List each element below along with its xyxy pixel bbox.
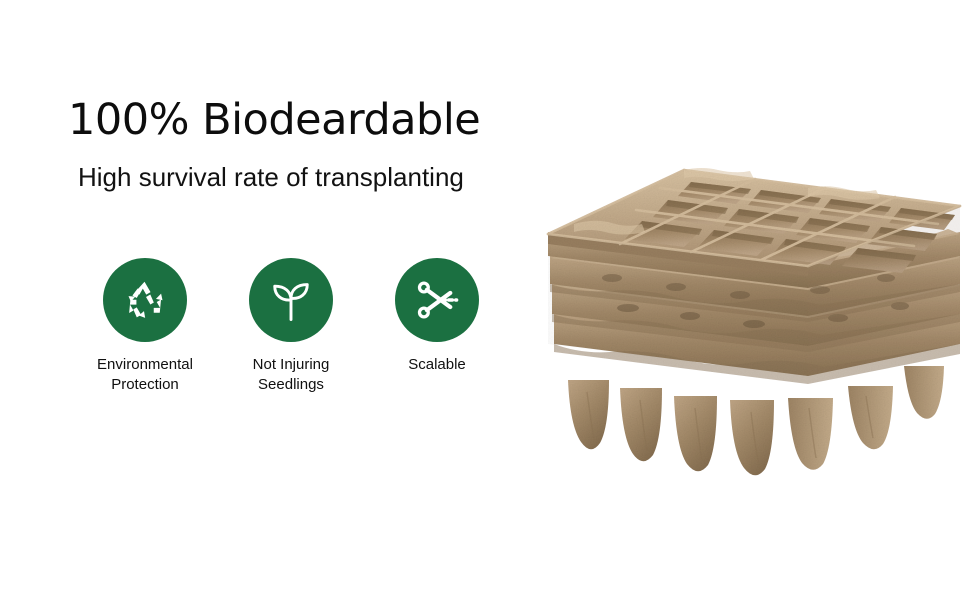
feature-caption-environmental-protection: Environmental Protection: [97, 355, 193, 395]
feature-item-not-injuring-seedlings: Not Injuring Seedlings: [218, 258, 364, 395]
feature-badge-environmental-protection: [103, 258, 187, 342]
feature-badge-not-injuring-seedlings: [249, 258, 333, 342]
feature-caption-not-injuring-seedlings: Not Injuring Seedlings: [253, 355, 330, 395]
feature-caption-scalable: Scalable: [408, 355, 466, 375]
feature-badge-scalable: [395, 258, 479, 342]
feature-item-environmental-protection: Environmental Protection: [72, 258, 218, 395]
feature-list: Environmental Protection: [72, 258, 512, 395]
product-infographic: 100% Biodeardable High survival rate of …: [0, 0, 970, 600]
scissors-cut-icon: [412, 275, 462, 325]
recycle-icon: [120, 275, 170, 325]
product-image-seedling-tray-stack: [508, 148, 966, 476]
seedling-icon: [265, 274, 317, 326]
feature-item-scalable: Scalable: [364, 258, 510, 375]
page-subtitle: High survival rate of transplanting: [78, 164, 464, 190]
page-title: 100% Biodeardable: [68, 99, 480, 142]
